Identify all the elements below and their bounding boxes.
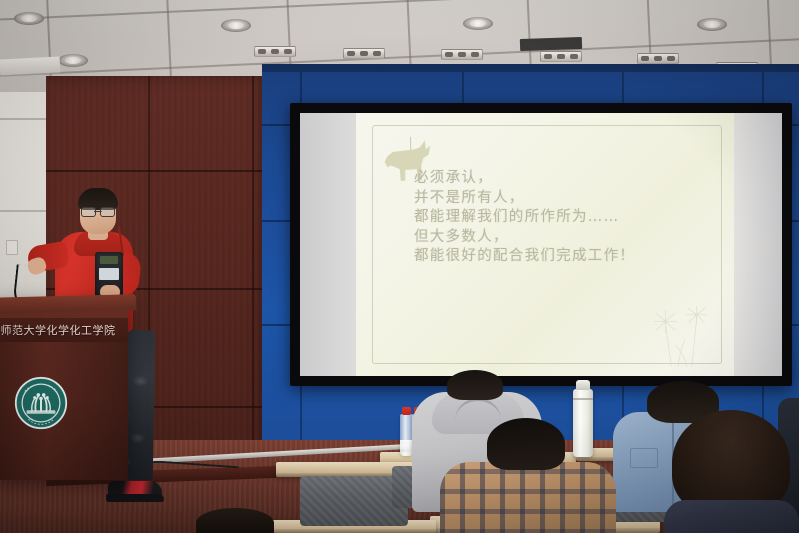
audience-head: [487, 418, 565, 470]
ceiling-downlight-icon: [697, 18, 727, 31]
wall-outlet: [6, 240, 18, 255]
dandelion-line-art-icon: [642, 306, 720, 368]
slide-line-5: 都能很好的配合我们完成工作！: [414, 247, 720, 267]
audience-shoulders: [664, 500, 799, 533]
lecture-hall-photo: 必须承认， 并不是所有人， 都能理解我们的所作所为…… 但大多数人， 都能很好的…: [0, 0, 799, 533]
ceiling-spotlight-bar: [254, 46, 296, 57]
ceiling-spotlight-bar: [343, 48, 385, 59]
ceiling-spotlight-bar: [540, 51, 582, 62]
lecture-podium: 南师范大学化学化工学院: [0, 298, 128, 480]
audience-member-foreground: [196, 508, 274, 533]
speaker-glasses: [81, 207, 115, 215]
ceiling-spotlight-bar: [441, 49, 483, 60]
podium-nameplate: 南师范大学化学化工学院: [0, 318, 128, 342]
audience-member-plaid-shirt: [440, 462, 616, 533]
ceiling-downlight-icon: [58, 54, 88, 67]
ceiling-downlight-icon: [14, 12, 44, 25]
projection-letterbox-left: [300, 113, 356, 376]
ceiling-downlight-icon: [463, 17, 493, 30]
slide-line-2: 并不是所有人，: [414, 189, 720, 209]
slide-text-block: 必须承认， 并不是所有人， 都能理解我们的所作所为…… 但大多数人， 都能很好的…: [414, 169, 720, 267]
slide-line-1: 必须承认，: [414, 169, 720, 189]
ceiling-vent: [520, 37, 582, 51]
podium-institution-text: 南师范大学化学化工学院: [0, 322, 116, 338]
slide-line-3: 都能理解我们的所作所为……: [414, 208, 720, 228]
presentation-slide: 必须承认， 并不是所有人， 都能理解我们的所作所为…… 但大多数人， 都能很好的…: [356, 113, 734, 376]
denim-pocket: [630, 448, 658, 468]
thermos-flask: [573, 389, 593, 457]
air-duct: [0, 56, 60, 76]
speaker-shoe: [106, 478, 164, 502]
projection-letterbox-right: [734, 113, 782, 376]
screen-surface: 必须承认， 并不是所有人， 都能理解我们的所作所为…… 但大多数人， 都能很好的…: [300, 113, 782, 376]
ceiling-downlight-icon: [221, 19, 251, 32]
university-emblem-icon: [14, 376, 68, 430]
projection-screen: 必须承认， 并不是所有人， 都能理解我们的所作所为…… 但大多数人， 都能很好的…: [290, 103, 792, 386]
slide-line-4: 但大多数人，: [414, 228, 720, 248]
audience-head: [447, 370, 503, 400]
ceiling-spotlight-bar: [637, 53, 679, 64]
